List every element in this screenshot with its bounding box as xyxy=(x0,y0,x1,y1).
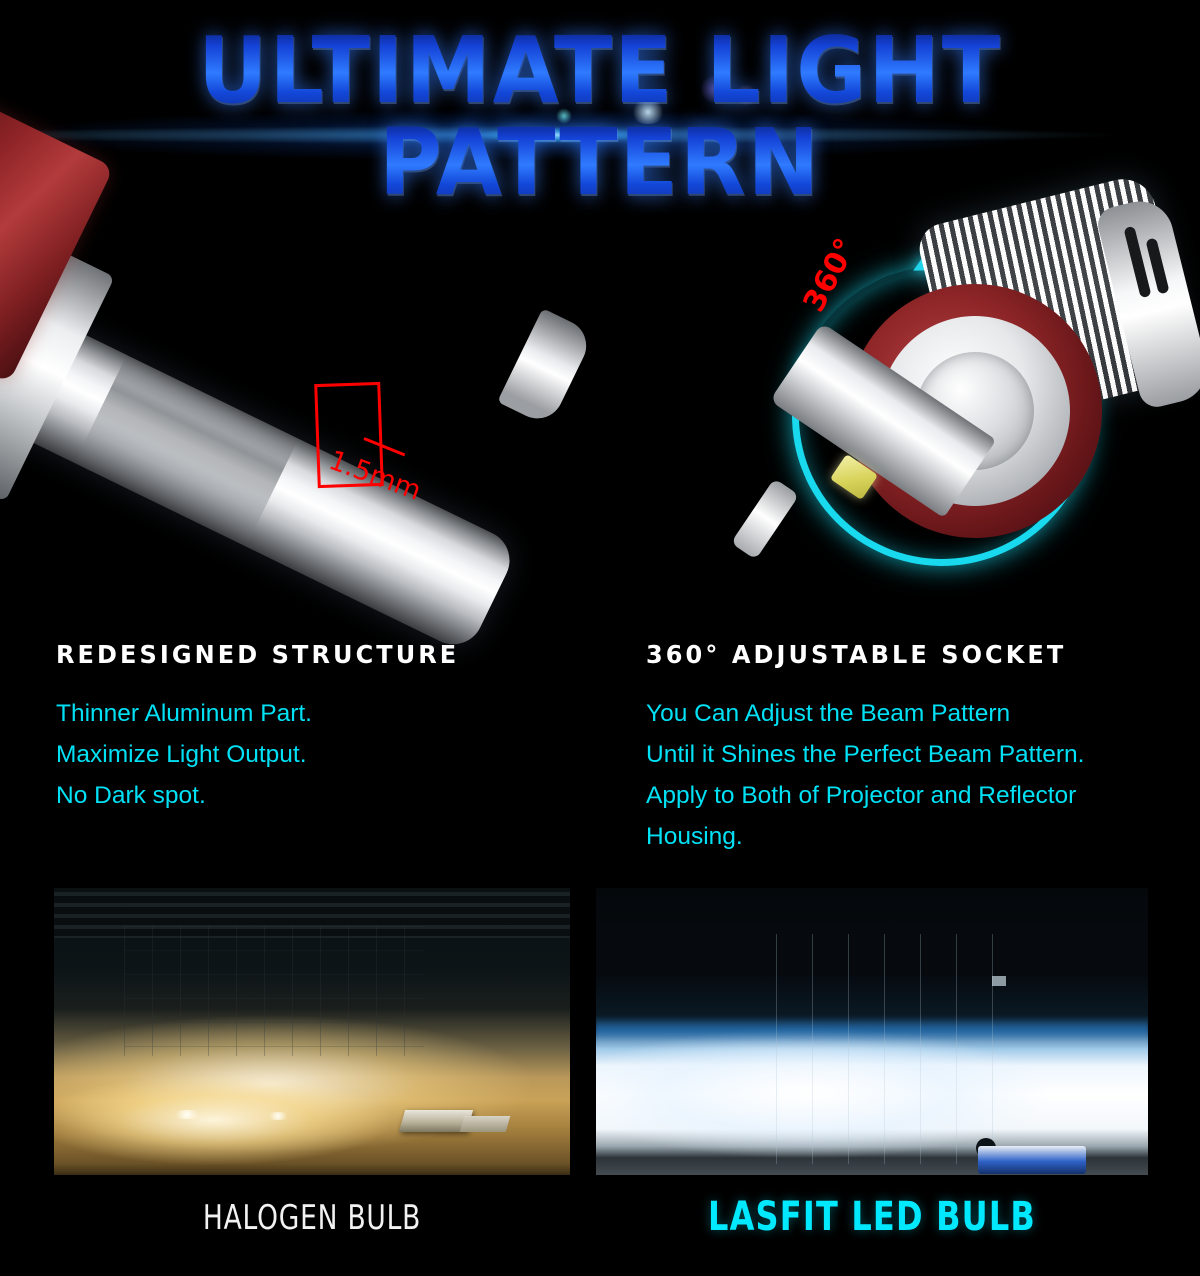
garage-wall-wires xyxy=(776,934,996,1164)
feature-block-adjustable-socket: 360° ADJUSTABLE SOCKET You Can Adjust th… xyxy=(646,640,1166,857)
garage-wall-grid xyxy=(124,926,424,1056)
floor-object xyxy=(460,1116,511,1132)
beam-hotspot xyxy=(172,1110,202,1119)
feature-line: You Can Adjust the Beam Pattern xyxy=(646,693,1166,734)
bulb-tip xyxy=(731,478,799,559)
led-bulb-render-left xyxy=(0,60,600,620)
bulb-tip xyxy=(497,308,595,427)
bulb-shaft xyxy=(0,301,520,654)
feature-heading: 360° ADJUSTABLE SOCKET xyxy=(646,640,1145,669)
feature-line: Maximize Light Output. xyxy=(56,734,576,775)
feature-heading: REDESIGNED STRUCTURE xyxy=(56,640,555,669)
beam-hotspot xyxy=(266,1112,290,1120)
led-bulb-render-right: 360° xyxy=(740,180,1200,620)
floor-object xyxy=(978,1146,1086,1174)
feature-block-redesigned-structure: REDESIGNED STRUCTURE Thinner Aluminum Pa… xyxy=(56,640,576,816)
flare-dot-icon xyxy=(630,100,666,124)
feature-line: Housing. xyxy=(646,816,1166,857)
feature-line: No Dark spot. xyxy=(56,775,576,816)
promo-page: ULTIMATE LIGHT PATTERN 1.5mm 360° REDESI… xyxy=(0,0,1200,1276)
wall-marking xyxy=(992,976,1006,986)
feature-line: Apply to Both of Projector and Reflector xyxy=(646,775,1166,816)
halogen-beam-photo xyxy=(54,888,570,1175)
feature-line: Thinner Aluminum Part. xyxy=(56,693,576,734)
flare-dot-icon xyxy=(735,84,757,106)
feature-line-list: You Can Adjust the Beam Pattern Until it… xyxy=(646,693,1166,857)
caption-halogen-bulb: HALOGEN BULB xyxy=(111,1198,513,1238)
feature-line-list: Thinner Aluminum Part. Maximize Light Ou… xyxy=(56,693,576,816)
led-beam-photo xyxy=(596,888,1148,1175)
flare-dot-icon xyxy=(700,74,730,104)
caption-lasfit-led-bulb: LASFIT LED BULB xyxy=(651,1194,1093,1240)
feature-line: Until it Shines the Perfect Beam Pattern… xyxy=(646,734,1166,775)
